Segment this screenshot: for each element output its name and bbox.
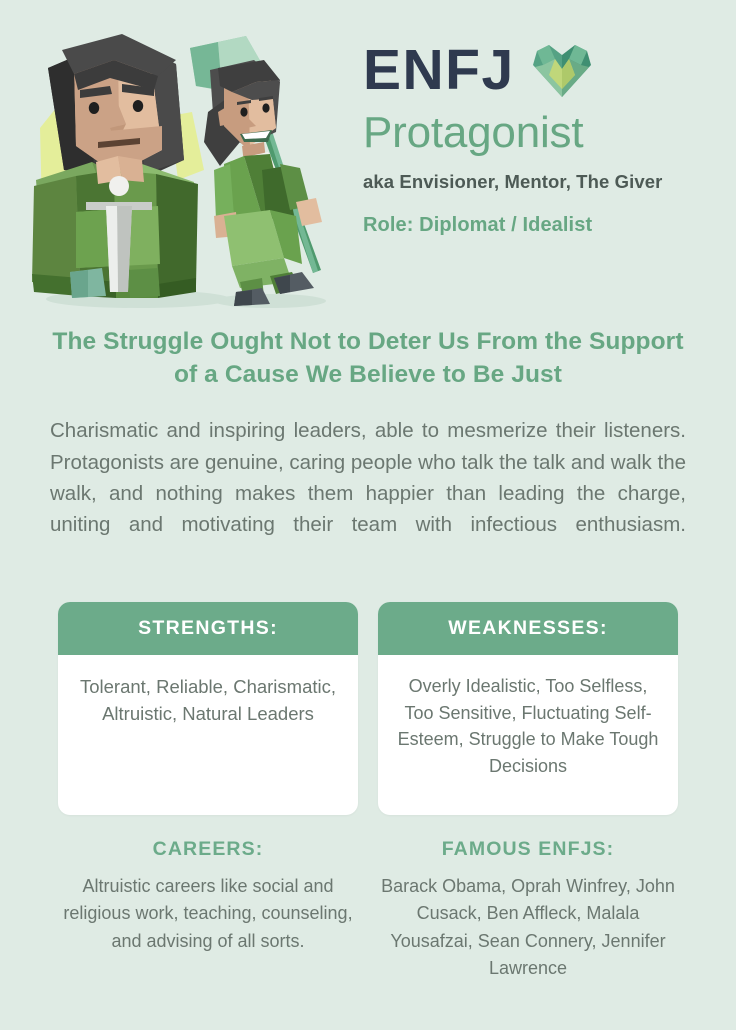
- careers-body: Altruistic careers like social and relig…: [58, 873, 358, 955]
- page-title: ENFJ: [363, 42, 515, 99]
- poster-header: ENFJ Protagonist aka Envisioner, Mentor,…: [0, 0, 736, 318]
- careers-column: CAREERS: Altruistic careers like social …: [58, 838, 358, 982]
- motto-quote: The Struggle Ought Not to Deter Us From …: [42, 326, 694, 391]
- character-illustration: [18, 20, 348, 312]
- type-row: ENFJ: [363, 42, 708, 99]
- careers-title: CAREERS:: [58, 838, 358, 861]
- weaknesses-card: WEAKNESSES: Overly Idealistic, Too Selfl…: [378, 602, 678, 815]
- description-paragraph: Charismatic and inspiring leaders, able …: [50, 415, 686, 540]
- role-label: Role: Diplomat / Idealist: [363, 214, 708, 237]
- footer-columns: CAREERS: Altruistic careers like social …: [0, 838, 736, 982]
- traits-cards: STRENGTHS: Tolerant, Reliable, Charismat…: [0, 602, 736, 815]
- strengths-card-body: Tolerant, Reliable, Charismatic, Altruis…: [58, 655, 358, 815]
- strengths-card-title: STRENGTHS:: [58, 602, 358, 655]
- gem-heart-icon: [531, 43, 593, 99]
- enfj-personality-poster: ENFJ Protagonist aka Envisioner, Mentor,…: [0, 0, 736, 1030]
- strengths-card: STRENGTHS: Tolerant, Reliable, Charismat…: [58, 602, 358, 815]
- alternative-names: aka Envisioner, Mentor, The Giver: [363, 169, 708, 195]
- personality-nickname: Protagonist: [363, 109, 708, 157]
- weaknesses-card-title: WEAKNESSES:: [378, 602, 678, 655]
- famous-enfjs-title: FAMOUS ENFJS:: [378, 838, 678, 861]
- famous-enfjs-body: Barack Obama, Oprah Winfrey, John Cusack…: [378, 873, 678, 982]
- title-block: ENFJ Protagonist aka Envisioner, Mentor,…: [363, 42, 708, 237]
- famous-enfjs-column: FAMOUS ENFJS: Barack Obama, Oprah Winfre…: [378, 838, 678, 982]
- weaknesses-card-body: Overly Idealistic, Too Selfless, Too Sen…: [378, 655, 678, 815]
